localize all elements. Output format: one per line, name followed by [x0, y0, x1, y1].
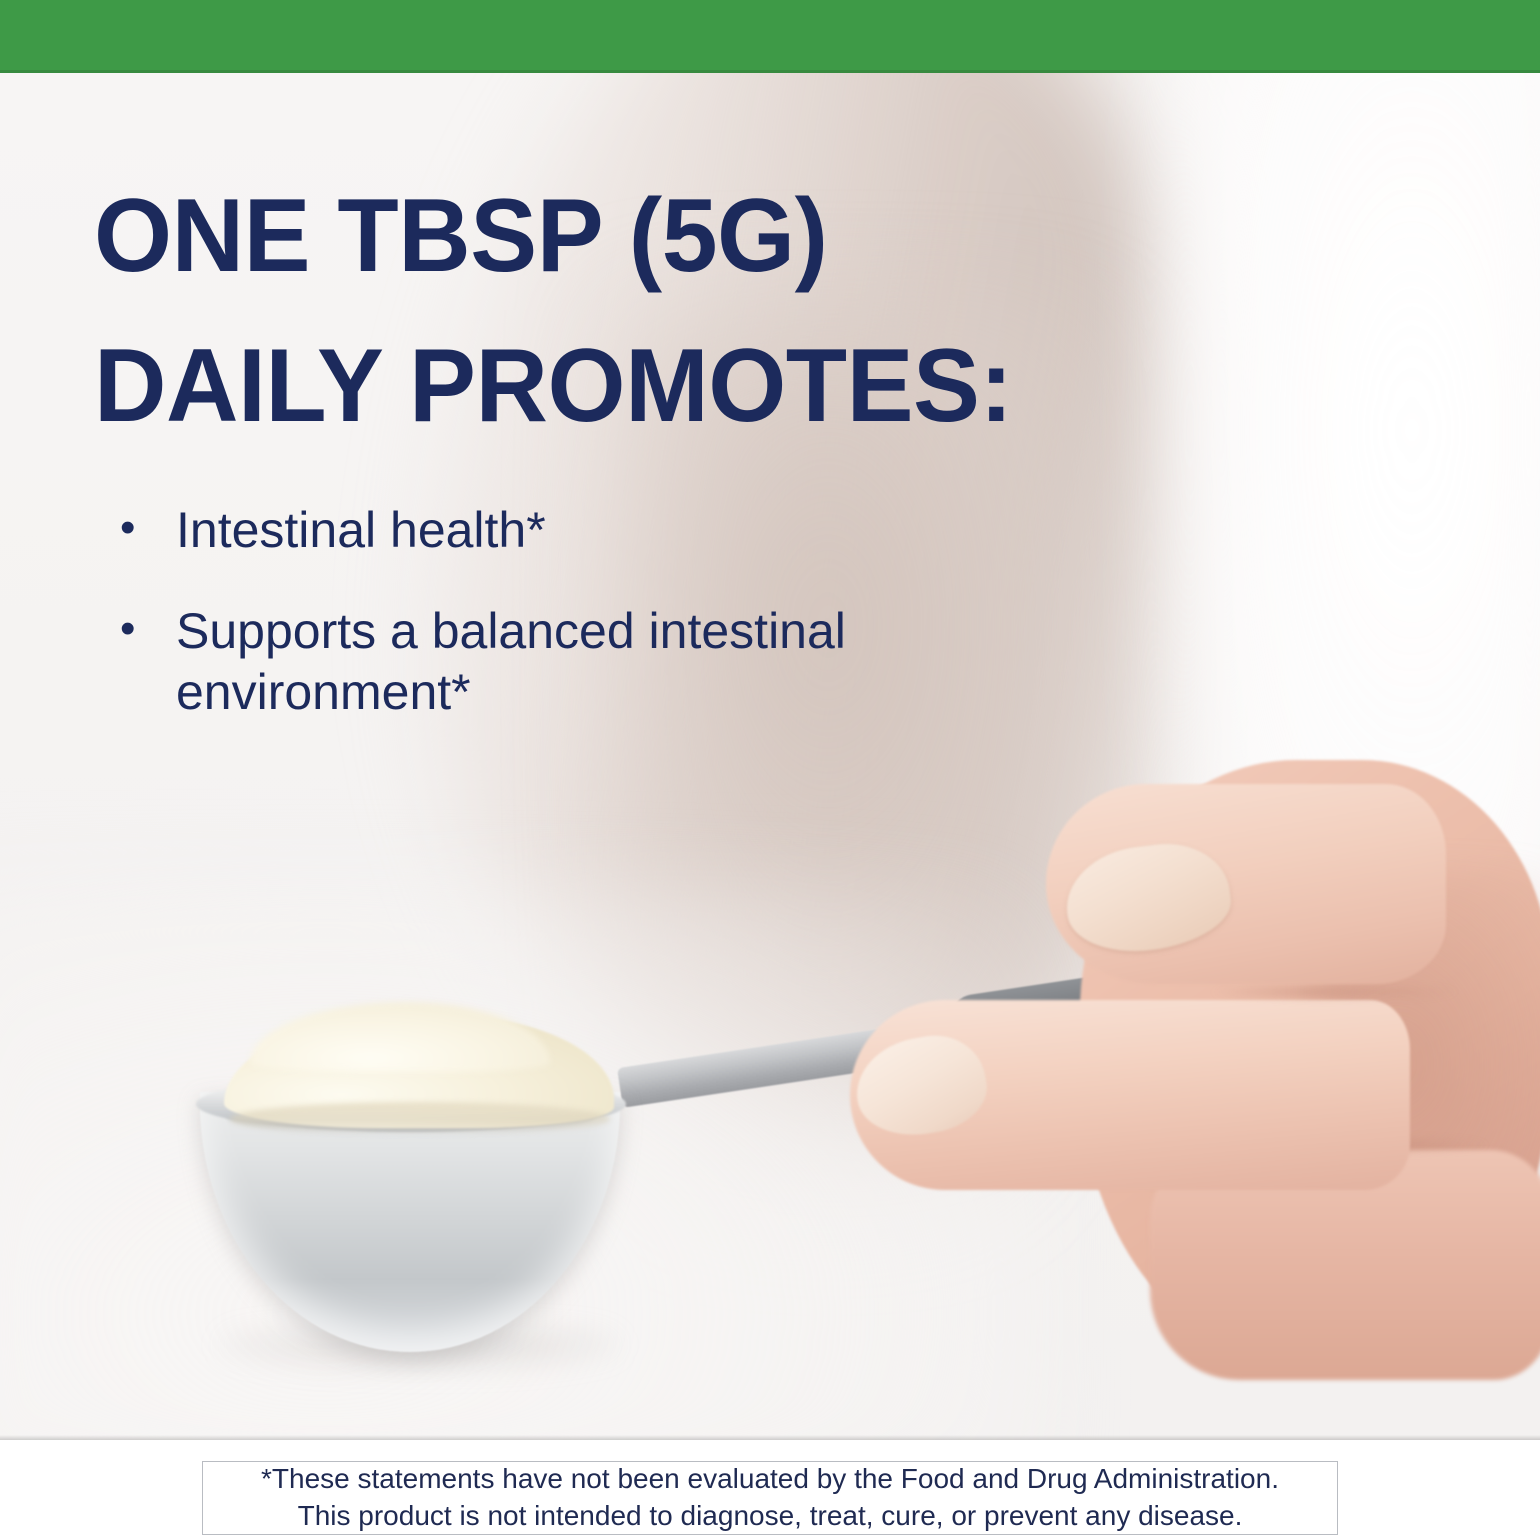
page-title: ONE TBSP (5G) DAILY PROMOTES:	[94, 162, 1310, 462]
list-item-label: Supports a balanced intestinal environme…	[176, 601, 1006, 723]
list-item: • Supports a balanced intestinal environ…	[120, 601, 1120, 723]
product-infographic-page: ONE TBSP (5G) DAILY PROMOTES: • Intestin…	[0, 0, 1540, 1540]
benefits-list: • Intestinal health* • Supports a balanc…	[120, 500, 1120, 763]
bullet-icon: •	[120, 601, 176, 657]
fda-disclaimer-text: *These statements have not been evaluate…	[255, 1461, 1285, 1535]
overlay-copy: ONE TBSP (5G) DAILY PROMOTES: • Intestin…	[0, 0, 1540, 1440]
top-green-band	[0, 0, 1540, 73]
bullet-icon: •	[120, 500, 176, 556]
list-item: • Intestinal health*	[120, 500, 1120, 561]
list-item-label: Intestinal health*	[176, 500, 1006, 561]
fda-disclaimer-box: *These statements have not been evaluate…	[202, 1461, 1338, 1535]
